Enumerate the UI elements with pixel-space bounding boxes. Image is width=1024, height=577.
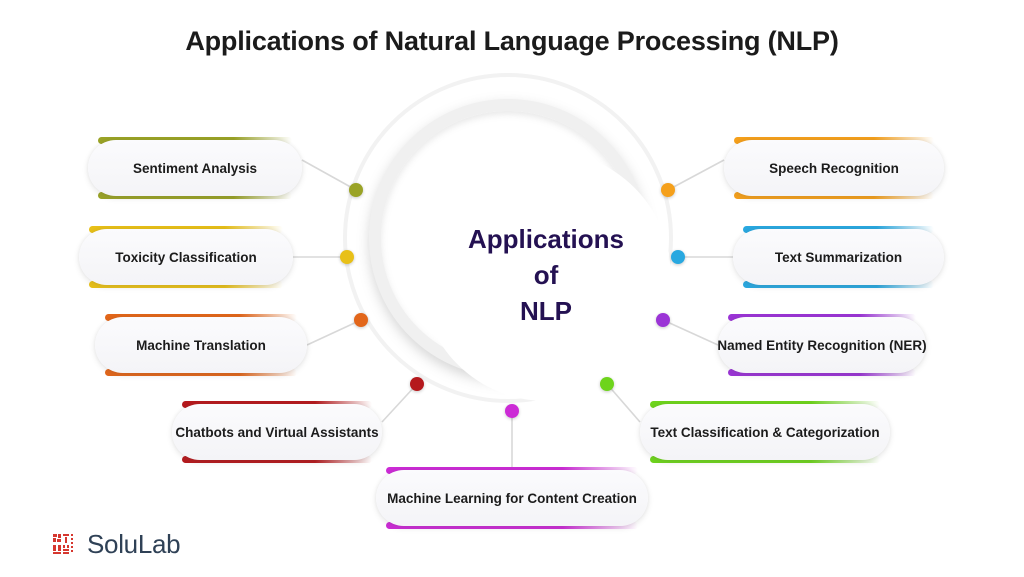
node-dot-text-classification-categorization[interactable] xyxy=(600,377,614,391)
node-dot-named-entity-recognition[interactable] xyxy=(656,313,670,327)
hub-title-line-1: Applications xyxy=(468,222,624,258)
hub-title-line-3: NLP xyxy=(520,294,572,330)
solulab-mark-icon xyxy=(52,531,78,557)
node-label-text-classification-categorization: Text Classification & Categorization xyxy=(650,425,879,440)
infographic-canvas: Applications of Natural Language Process… xyxy=(0,0,1024,577)
node-pill-machine-translation[interactable]: Machine Translation xyxy=(95,317,307,373)
hub-core: Applications of NLP xyxy=(421,151,671,401)
pill-face: Named Entity Recognition (NER) xyxy=(718,317,926,373)
node-label-chatbots-virtual-assistants: Chatbots and Virtual Assistants xyxy=(175,425,378,440)
pill-face: Machine Learning for Content Creation xyxy=(376,470,648,526)
hub-inner-ring: Applications of NLP xyxy=(369,99,647,377)
central-hub: Applications of NLP xyxy=(343,73,681,411)
node-dot-machine-translation[interactable] xyxy=(354,313,368,327)
node-pill-machine-learning-content-creation[interactable]: Machine Learning for Content Creation xyxy=(376,470,648,526)
node-label-machine-learning-content-creation: Machine Learning for Content Creation xyxy=(387,491,637,506)
node-pill-sentiment-analysis[interactable]: Sentiment Analysis xyxy=(88,140,302,196)
pill-face: Machine Translation xyxy=(95,317,307,373)
pill-face: Text Classification & Categorization xyxy=(640,404,890,460)
node-pill-chatbots-virtual-assistants[interactable]: Chatbots and Virtual Assistants xyxy=(172,404,382,460)
node-dot-text-summarization[interactable] xyxy=(671,250,685,264)
node-dot-chatbots-virtual-assistants[interactable] xyxy=(410,377,424,391)
pill-face: Toxicity Classification xyxy=(79,229,293,285)
page-title: Applications of Natural Language Process… xyxy=(0,26,1024,57)
brand-name: SoluLab xyxy=(87,531,180,557)
node-label-speech-recognition: Speech Recognition xyxy=(769,161,899,176)
node-pill-text-classification-categorization[interactable]: Text Classification & Categorization xyxy=(640,404,890,460)
node-dot-machine-learning-content-creation[interactable] xyxy=(505,404,519,418)
pill-face: Chatbots and Virtual Assistants xyxy=(172,404,382,460)
node-pill-text-summarization[interactable]: Text Summarization xyxy=(733,229,944,285)
brand-logo: SoluLab xyxy=(52,531,180,557)
node-pill-toxicity-classification[interactable]: Toxicity Classification xyxy=(79,229,293,285)
node-label-toxicity-classification: Toxicity Classification xyxy=(115,250,257,265)
node-dot-toxicity-classification[interactable] xyxy=(340,250,354,264)
node-dot-speech-recognition[interactable] xyxy=(661,183,675,197)
node-pill-speech-recognition[interactable]: Speech Recognition xyxy=(724,140,944,196)
pill-face: Speech Recognition xyxy=(724,140,944,196)
pill-face: Text Summarization xyxy=(733,229,944,285)
node-pill-named-entity-recognition[interactable]: Named Entity Recognition (NER) xyxy=(718,317,926,373)
node-label-sentiment-analysis: Sentiment Analysis xyxy=(133,161,257,176)
hub-title-line-2: of xyxy=(534,258,559,294)
node-label-named-entity-recognition: Named Entity Recognition (NER) xyxy=(717,338,926,353)
pill-face: Sentiment Analysis xyxy=(88,140,302,196)
node-label-text-summarization: Text Summarization xyxy=(775,250,902,265)
node-label-machine-translation: Machine Translation xyxy=(136,338,266,353)
node-dot-sentiment-analysis[interactable] xyxy=(349,183,363,197)
